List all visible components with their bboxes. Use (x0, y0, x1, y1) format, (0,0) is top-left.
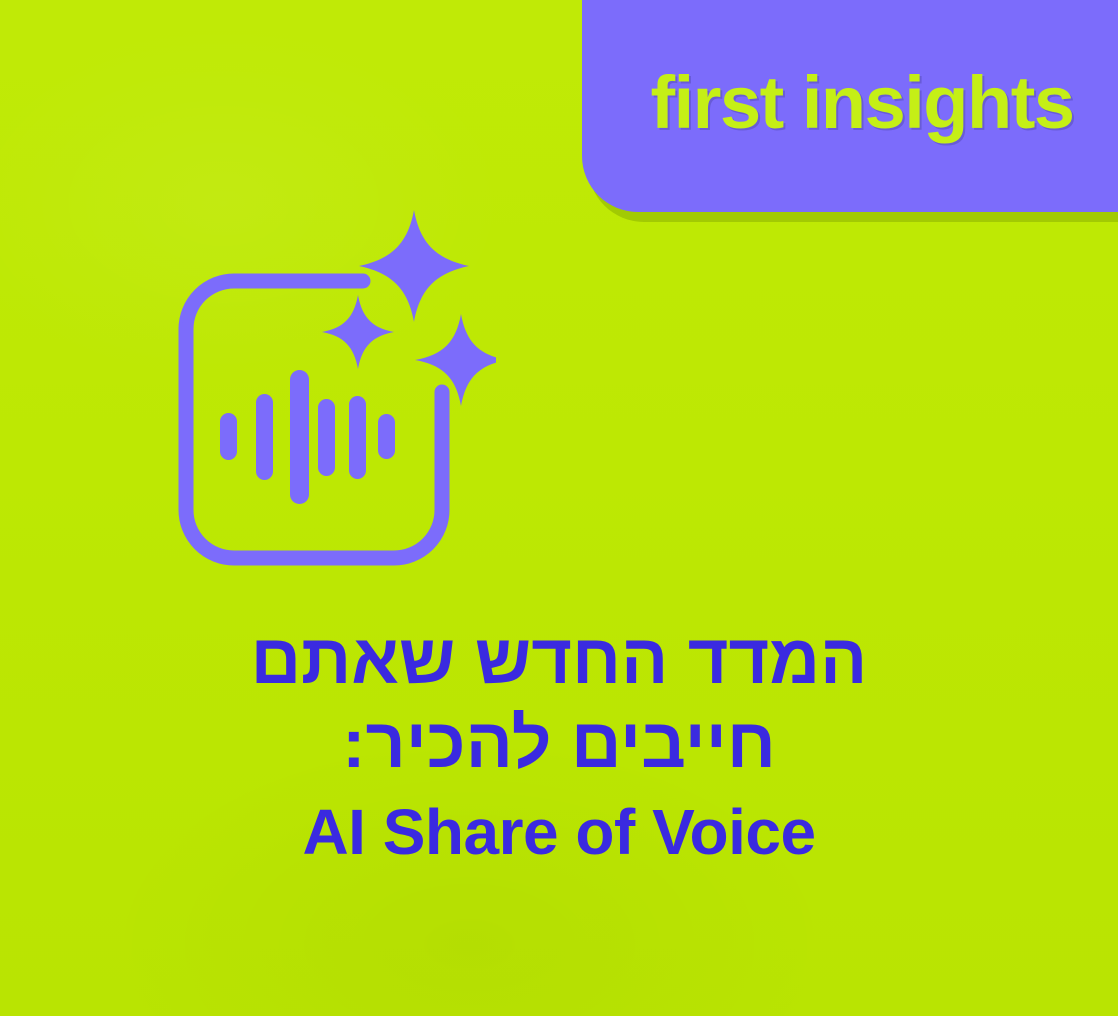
first-insights-badge: first insights (582, 0, 1118, 212)
sparkle-icons (322, 210, 496, 406)
badge-label: first insights (582, 0, 1118, 212)
headline-hebrew-line-2: חייבים להכיר: (0, 708, 1118, 778)
poster-canvas: first insights (0, 0, 1118, 1016)
waveform-bars (220, 370, 395, 504)
headline-english-line: AI Share of Voice (0, 800, 1118, 864)
ai-audio-waveform-sparkle-icon (146, 202, 496, 580)
headline-block: המדד החדש שאתם חייבים להכיר: AI Share of… (0, 624, 1118, 864)
headline-hebrew-line-1: המדד החדש שאתם (0, 624, 1118, 694)
